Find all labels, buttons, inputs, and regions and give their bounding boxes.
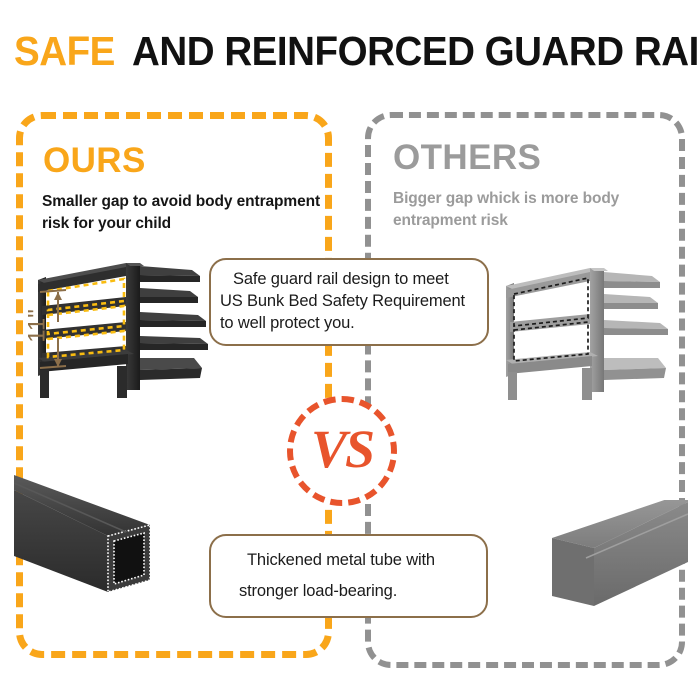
vs-badge-label: VS xyxy=(311,422,373,476)
callout-line: to well protect you. xyxy=(211,313,487,335)
dimension-label-text: 11" xyxy=(24,309,52,342)
vs-badge: VS xyxy=(287,396,397,506)
dimension-marker: 11" xyxy=(16,296,60,356)
callout-line: Thickened metal tube with xyxy=(211,545,486,576)
page-title: SAFE AND REINFORCED GUARD RAIL xyxy=(14,26,700,76)
callout-line: US Bunk Bed Safety Requirement xyxy=(211,291,487,313)
others-guard-rail-image xyxy=(494,262,674,402)
callout-line: stronger load-bearing. xyxy=(211,576,486,607)
panel-others-subtitle: Bigger gap whick is more body entrapment… xyxy=(393,188,685,233)
callout-thickened-tube: Thickened metal tube with stronger load-… xyxy=(209,534,488,618)
others-metal-tube-image xyxy=(520,500,688,630)
title-rest-text: AND REINFORCED GUARD RAIL xyxy=(132,31,700,72)
ours-metal-tube-image xyxy=(14,470,190,620)
callout-safety-requirement: Safe guard rail design to meet US Bunk B… xyxy=(209,258,489,346)
panel-ours-heading: OURS xyxy=(43,143,146,178)
panel-others-heading: OTHERS xyxy=(393,140,541,175)
panel-ours-subtitle: Smaller gap to avoid body entrapment ris… xyxy=(42,191,332,236)
callout-line: Safe guard rail design to meet xyxy=(211,269,487,291)
title-highlight-word: SAFE xyxy=(14,31,115,72)
